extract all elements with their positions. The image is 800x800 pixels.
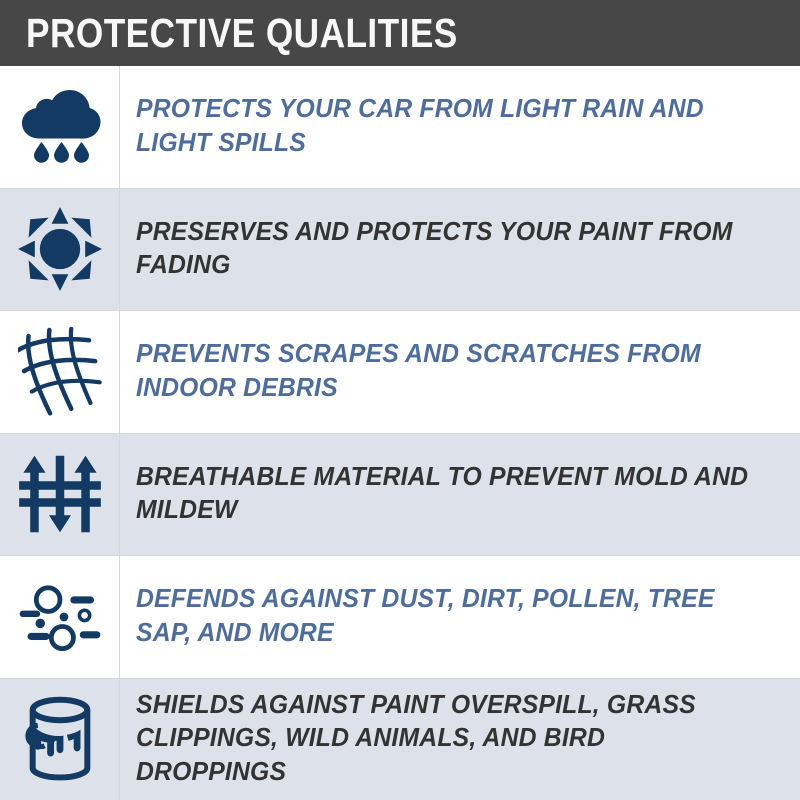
text-cell: BREATHABLE MATERIAL TO PREVENT MOLD AND … <box>120 434 800 556</box>
dust-particles-icon <box>16 579 104 655</box>
feature-row: PRESERVES AND PROTECTS YOUR PAINT FROM F… <box>0 189 800 312</box>
icon-cell <box>0 66 120 188</box>
feature-text: BREATHABLE MATERIAL TO PREVENT MOLD AND … <box>136 461 753 528</box>
feature-row: DEFENDS AGAINST DUST, DIRT, POLLEN, TREE… <box>0 556 800 679</box>
text-cell: PROTECTS YOUR CAR FROM LIGHT RAIN AND LI… <box>120 66 800 188</box>
header-bar: PROTECTIVE QUALITIES <box>0 0 800 66</box>
rain-cloud-icon <box>19 90 101 164</box>
icon-cell <box>0 311 120 433</box>
breathable-arrows-icon <box>17 454 103 534</box>
icon-cell <box>0 556 120 678</box>
protective-qualities-infographic: PROTECTIVE QUALITIES PROTEC <box>0 0 800 800</box>
scratch-mesh-icon <box>18 327 102 417</box>
feature-row: SHIELDS AGAINST PAINT OVERSPILL, GRASS C… <box>0 679 800 800</box>
feature-row: PREVENTS SCRAPES AND SCRATCHES FROM INDO… <box>0 311 800 434</box>
icon-cell <box>0 679 120 800</box>
page-title: PROTECTIVE QUALITIES <box>26 13 458 54</box>
feature-row: PROTECTS YOUR CAR FROM LIGHT RAIN AND LI… <box>0 66 800 189</box>
text-cell: SHIELDS AGAINST PAINT OVERSPILL, GRASS C… <box>120 679 800 800</box>
icon-cell <box>0 189 120 311</box>
icon-cell <box>0 434 120 556</box>
text-cell: DEFENDS AGAINST DUST, DIRT, POLLEN, TREE… <box>120 556 800 678</box>
sun-icon <box>18 207 102 291</box>
feature-text: SHIELDS AGAINST PAINT OVERSPILL, GRASS C… <box>136 689 753 790</box>
feature-text: PREVENTS SCRAPES AND SCRATCHES FROM INDO… <box>136 338 753 405</box>
feature-list: PROTECTS YOUR CAR FROM LIGHT RAIN AND LI… <box>0 66 800 800</box>
paint-can-icon <box>19 696 101 782</box>
feature-text: PROTECTS YOUR CAR FROM LIGHT RAIN AND LI… <box>136 93 753 160</box>
feature-row: BREATHABLE MATERIAL TO PREVENT MOLD AND … <box>0 434 800 557</box>
text-cell: PREVENTS SCRAPES AND SCRATCHES FROM INDO… <box>120 311 800 433</box>
feature-text: DEFENDS AGAINST DUST, DIRT, POLLEN, TREE… <box>136 583 753 650</box>
text-cell: PRESERVES AND PROTECTS YOUR PAINT FROM F… <box>120 189 800 311</box>
feature-text: PRESERVES AND PROTECTS YOUR PAINT FROM F… <box>136 216 753 283</box>
